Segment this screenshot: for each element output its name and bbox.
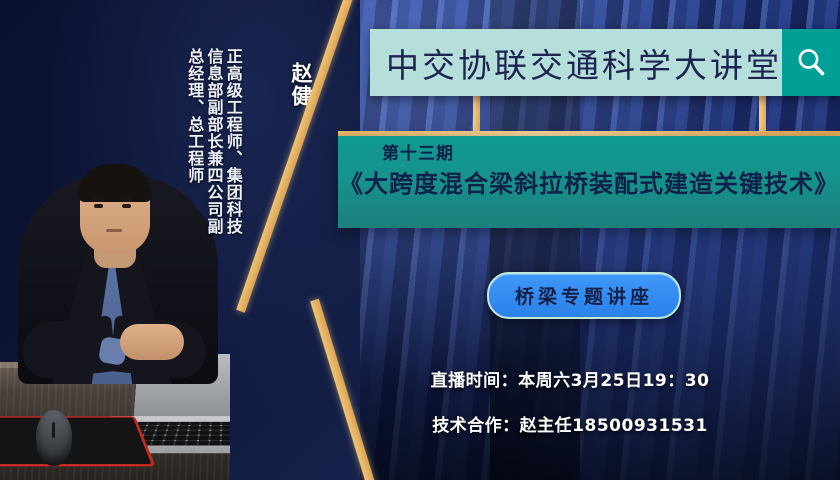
title-bar: 中交协联交通科学大讲堂 — [370, 29, 840, 96]
eyebrow-right — [120, 197, 133, 200]
hair — [78, 164, 152, 202]
search-button[interactable] — [782, 29, 840, 96]
speaker-name: 赵健 — [286, 62, 316, 108]
sign-post-right — [759, 96, 766, 136]
webinar-poster: 正高级工程师、集团科技 信息部副部长兼四公司副 总经理、总工程师 赵健 中交协联… — [0, 0, 840, 480]
title-plate: 中交协联交通科学大讲堂 — [370, 29, 782, 96]
credential-line-2: 信息部副部长兼四公司副 — [205, 48, 222, 235]
computer-mouse — [36, 410, 72, 466]
live-time-text: 直播时间：本周六3月25日19：30 — [300, 366, 840, 391]
eye-left — [94, 204, 103, 208]
search-icon — [794, 46, 828, 80]
episode-label: 第十三期 — [338, 142, 840, 168]
eye-right — [122, 204, 131, 208]
clasped-hands — [120, 324, 184, 360]
subtitle-panel: 第十三期 《大跨度混合梁斜拉桥装配式建造关键技术》 — [338, 136, 840, 228]
topic-title: 《大跨度混合梁斜拉桥装配式建造关键技术》 — [338, 168, 840, 200]
page-title: 中交协联交通科学大讲堂 — [386, 39, 782, 87]
speaker-credentials: 正高级工程师、集团科技 信息部副部长兼四公司副 总经理、总工程师 — [186, 12, 242, 312]
contact-text: 技术合作：赵主任18500931531 — [300, 411, 840, 436]
category-badge: 桥梁专题讲座 — [487, 272, 681, 319]
mouse-pad — [0, 416, 156, 466]
credential-line-1: 正高级工程师、集团科技 — [225, 48, 242, 235]
eyebrow-left — [92, 197, 105, 200]
left-speaker-panel: 正高级工程师、集团科技 信息部副部长兼四公司副 总经理、总工程师 赵健 — [0, 0, 360, 480]
credential-line-3: 总经理、总工程师 — [186, 48, 203, 184]
mouth — [106, 229, 122, 232]
sign-post-left — [473, 96, 480, 136]
